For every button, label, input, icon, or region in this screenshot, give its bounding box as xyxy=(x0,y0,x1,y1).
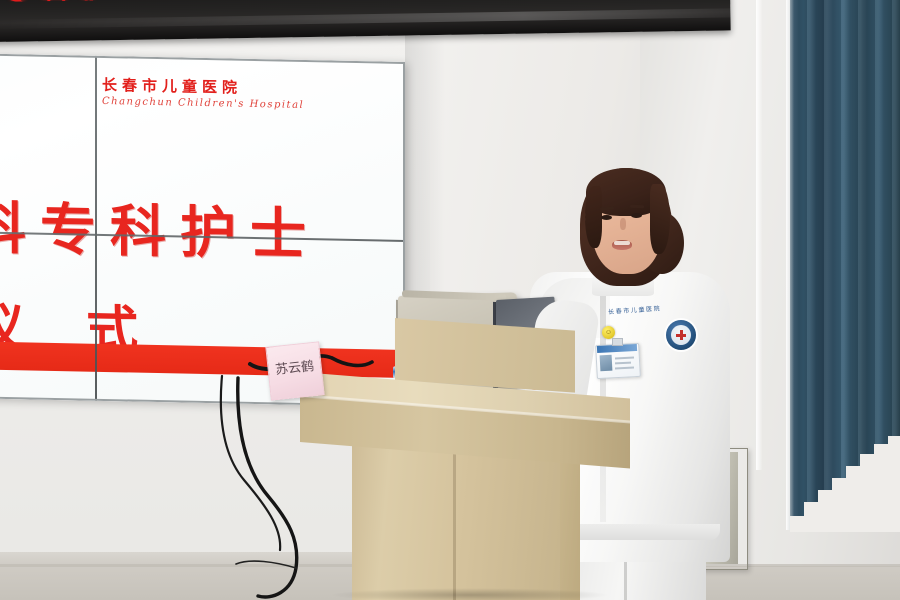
curtain-hem-notch xyxy=(846,466,860,532)
speaker-teeth xyxy=(614,241,630,245)
curtain-hem-notch xyxy=(818,490,832,532)
curtain-hem xyxy=(790,420,900,532)
smiley-pin-glyph: ☺ xyxy=(604,329,613,336)
curtain-hem-notch xyxy=(860,454,874,532)
curtain-hem-notch xyxy=(888,436,900,532)
speaker-name-card-text: 苏云鹤 xyxy=(268,354,322,378)
speaker-hair-side-right xyxy=(650,184,670,254)
lectern-floor-shadow xyxy=(330,588,610,600)
id-badge-photo xyxy=(600,355,613,372)
speaker-hair-side-left xyxy=(585,186,602,248)
curtain-hem-notch xyxy=(874,444,888,532)
curtain-hem-notch xyxy=(832,478,846,532)
curtain-hem-notch xyxy=(804,502,818,532)
video-wall-bezel xyxy=(0,51,405,407)
speaker-name-card: 苏云鹤 xyxy=(265,341,324,400)
curtain-hem-notch xyxy=(790,516,804,532)
medical-cross-icon xyxy=(676,330,686,340)
wall-corner-highlight xyxy=(756,0,762,470)
lectern-column-seam xyxy=(453,440,456,600)
display-glare xyxy=(0,8,730,29)
speaker-eye-right xyxy=(631,213,642,218)
video-wall-display: 医疗中心 medical center 长春市儿童医院 Changchun Ch… xyxy=(0,51,405,407)
speaker-nose xyxy=(620,218,626,230)
id-badge-clip xyxy=(612,338,623,346)
photo-scene: 专科护士 医疗中心 medical center 长春市儿童医院 Changch… xyxy=(0,0,900,600)
speaker-eye-left xyxy=(601,215,612,220)
upper-display-text: 专科护士 xyxy=(4,0,474,2)
